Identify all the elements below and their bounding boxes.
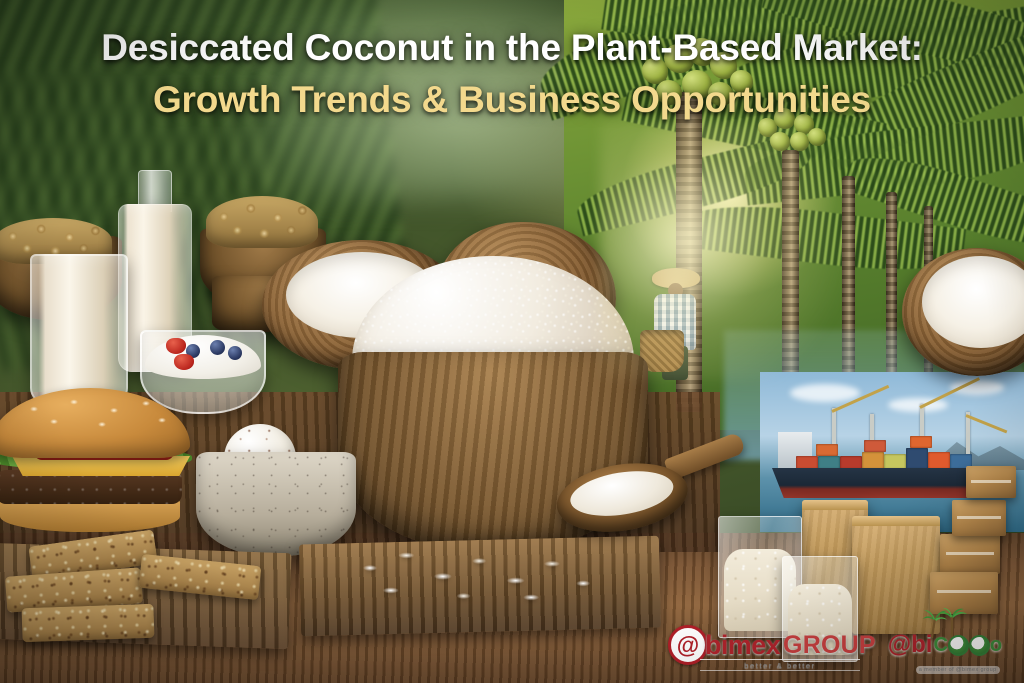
plant-milk-glass	[30, 254, 128, 404]
export-carton	[940, 534, 1000, 574]
bimex-wordmark: bimex	[705, 630, 780, 661]
bicoco-tagline: a member of @bimex group	[916, 666, 1000, 674]
blueberry	[210, 340, 225, 355]
bimex-group-logo[interactable]: @ bimex GROUP better & better	[668, 622, 876, 668]
bimex-group-suffix: GROUP	[783, 631, 876, 660]
bicoco-logo[interactable]: @ bi C o a member of @bimex group	[886, 620, 1002, 670]
at-symbol-icon: @	[888, 633, 911, 657]
ceramic-bowl	[196, 452, 356, 556]
export-carton	[966, 466, 1016, 498]
banner-title: Desiccated Coconut in the Plant-Based Ma…	[0, 26, 1024, 122]
coconut-flakes-scatter	[344, 540, 604, 610]
sesame-seeds	[0, 388, 190, 458]
banner-image: Desiccated Coconut in the Plant-Based Ma…	[0, 0, 1024, 683]
palm-tree-icon	[922, 608, 968, 638]
coconut-half-icon	[969, 635, 990, 656]
coconut-half-icon	[948, 635, 969, 656]
glass-body	[30, 254, 128, 404]
brand-logos: @ bimex GROUP better & better @ bi C	[668, 616, 1016, 674]
blueberry	[228, 346, 242, 360]
coco-letter-o: o	[990, 635, 1002, 655]
plant-based-burger	[0, 388, 208, 538]
burger-top-bun	[0, 388, 190, 458]
strawberry	[174, 354, 194, 370]
granola-bar	[21, 604, 154, 643]
coco-letter-c: C	[933, 635, 947, 655]
nut-pile-right	[206, 196, 318, 248]
coconut-ice-cream-bowl	[196, 452, 356, 556]
strawberry	[166, 338, 186, 354]
bimex-tagline: better & better	[700, 659, 860, 671]
title-line-primary: Desiccated Coconut in the Plant-Based Ma…	[0, 26, 1024, 70]
export-carton	[952, 500, 1006, 536]
title-line-secondary: Growth Trends & Business Opportunities	[0, 78, 1024, 122]
